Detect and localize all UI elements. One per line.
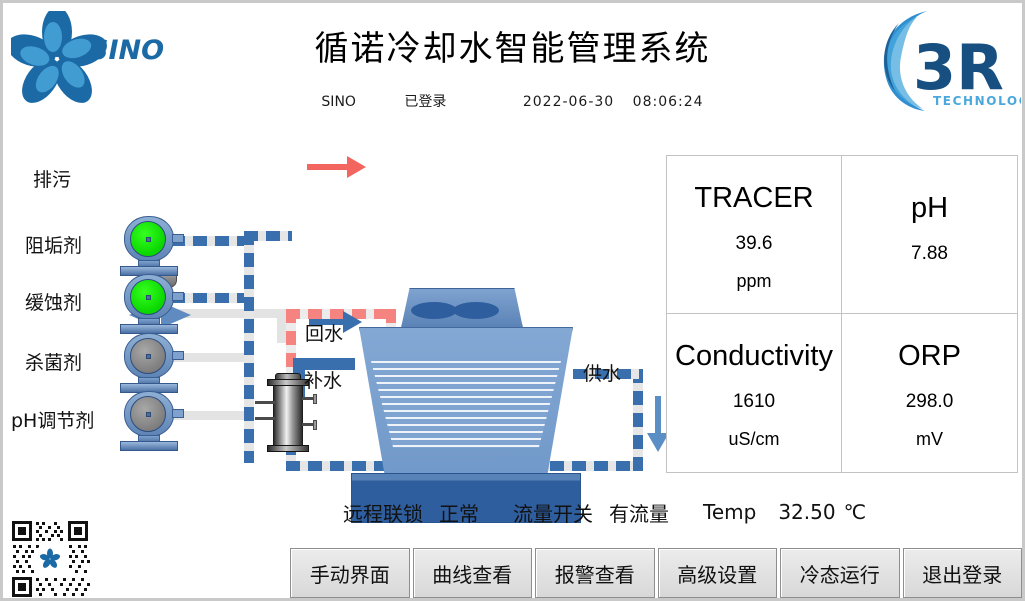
return-flow-arrow-icon (347, 156, 366, 178)
filter-flange-top-icon (267, 379, 309, 386)
label-return-water: 回水 (305, 319, 343, 346)
pump-antiscalant[interactable] (116, 216, 182, 276)
pump-base-icon (120, 441, 178, 451)
label-biocide: 杀菌剂 (25, 348, 82, 375)
metric-name: TRACER (694, 182, 813, 215)
pump-center-dot-icon (146, 412, 151, 417)
status-temp-label: Temp (703, 500, 756, 524)
pump-center-dot-icon (146, 237, 151, 242)
tower-fan-blade-icon (411, 302, 457, 319)
metric-value: 298.0 (906, 391, 954, 413)
makeup-flow-arrow-icon (343, 311, 362, 333)
pump-nozzle-icon (172, 351, 184, 360)
metric-name: ORP (898, 340, 961, 373)
advanced-settings-button[interactable]: 高级设置 (658, 548, 778, 598)
pipe-chem-header (244, 231, 254, 463)
status-flow-switch-value: 有流量 (609, 498, 669, 527)
metric-name: pH (911, 192, 948, 225)
alarm-view-button[interactable]: 报警查看 (535, 548, 655, 598)
cold-start-button[interactable]: 冷态运行 (780, 548, 900, 598)
pump-ph-adjuster[interactable] (116, 391, 182, 451)
session-time: 08:06:24 (633, 94, 704, 110)
3r-technology-logo: 3R TECHNOLOGY (869, 5, 1021, 117)
tower-fan-blade-icon (453, 302, 499, 319)
application-window: SINO 循诺冷却水智能管理系统 SINO 已登录 2022-06-30 08:… (0, 0, 1025, 601)
filter-port-icon (313, 394, 317, 404)
label-antiscalant: 阻垢剂 (25, 231, 82, 258)
session-date: 2022-06-30 (523, 94, 614, 110)
metric-unit: uS/cm (728, 429, 779, 450)
session-status: 已登录 (404, 91, 446, 111)
metric-tracer: TRACER 39.6 ppm (667, 156, 842, 314)
metric-value: 39.6 (736, 233, 773, 255)
metric-value: 1610 (733, 391, 775, 413)
3r-logo-svg: 3R TECHNOLOGY (869, 5, 1021, 117)
label-supply-water: 供水 (583, 359, 621, 386)
pipe-chem-to-hx (244, 231, 292, 241)
pump-nozzle-icon (172, 234, 184, 243)
metrics-panel: TRACER 39.6 ppm pH 7.88 Conductivity 161… (666, 155, 1018, 473)
metric-ph: pH 7.88 (842, 156, 1017, 314)
button-bar: 手动界面 曲线查看 报警查看 高级设置 冷态运行 退出登录 (290, 548, 1022, 598)
status-remote-interlock-label: 远程联锁 (343, 498, 423, 527)
tower-louvers-icon (359, 356, 573, 448)
metric-orp: ORP 298.0 mV (842, 314, 1017, 472)
metric-value: 7.88 (911, 243, 948, 265)
return-arrow-tail (307, 164, 349, 170)
metric-conductivity: Conductivity 1610 uS/cm (667, 314, 842, 472)
label-ph-adjuster: pH调节剂 (11, 406, 94, 433)
qr-code-svg (9, 518, 91, 600)
pump-nozzle-icon (172, 409, 184, 418)
status-temp-unit: ℃ (844, 500, 866, 524)
label-makeup-water: 补水 (304, 366, 342, 393)
trend-view-button[interactable]: 曲线查看 (413, 548, 533, 598)
filter-nozzle-icon (255, 401, 275, 404)
status-bar: 远程联锁 正常 流量开关 有流量 Temp 32.50 ℃ (343, 495, 1023, 529)
qr-code (9, 518, 91, 600)
filter-shell-icon (273, 381, 303, 449)
pipe-blowdown-riser (277, 309, 286, 343)
pipe-loop-right (633, 369, 643, 471)
pump-corrosion-inhibitor[interactable] (116, 274, 182, 334)
status-remote-interlock-value: 正常 (439, 498, 479, 527)
pump-center-dot-icon (146, 354, 151, 359)
filter-port-icon (313, 420, 317, 430)
supply-arrow-tail (655, 396, 661, 436)
metric-unit: ppm (736, 271, 771, 292)
pump-biocide[interactable] (116, 333, 182, 393)
pump-center-dot-icon (146, 295, 151, 300)
process-diagram: 排污 阻垢剂 缓蚀剂 杀菌剂 pH调节剂 (3, 123, 663, 483)
session-user: SINO (321, 94, 356, 110)
filter-flange-bottom-icon (267, 445, 309, 452)
header: SINO 循诺冷却水智能管理系统 SINO 已登录 2022-06-30 08:… (3, 3, 1022, 123)
label-corrosion-inhibitor: 缓蚀剂 (25, 288, 82, 315)
metric-unit: mV (916, 429, 943, 450)
metric-name: Conductivity (675, 340, 833, 373)
filter-nozzle-icon (255, 417, 275, 420)
pump-nozzle-icon (172, 292, 184, 301)
status-flow-switch-label: 流量开关 (513, 498, 593, 527)
label-blowdown: 排污 (33, 165, 71, 192)
manual-interface-button[interactable]: 手动界面 (290, 548, 410, 598)
3r-logo-subtext: TECHNOLOGY (933, 94, 1021, 108)
logout-button[interactable]: 退出登录 (903, 548, 1023, 598)
status-temp-value: 32.50 (778, 500, 835, 524)
